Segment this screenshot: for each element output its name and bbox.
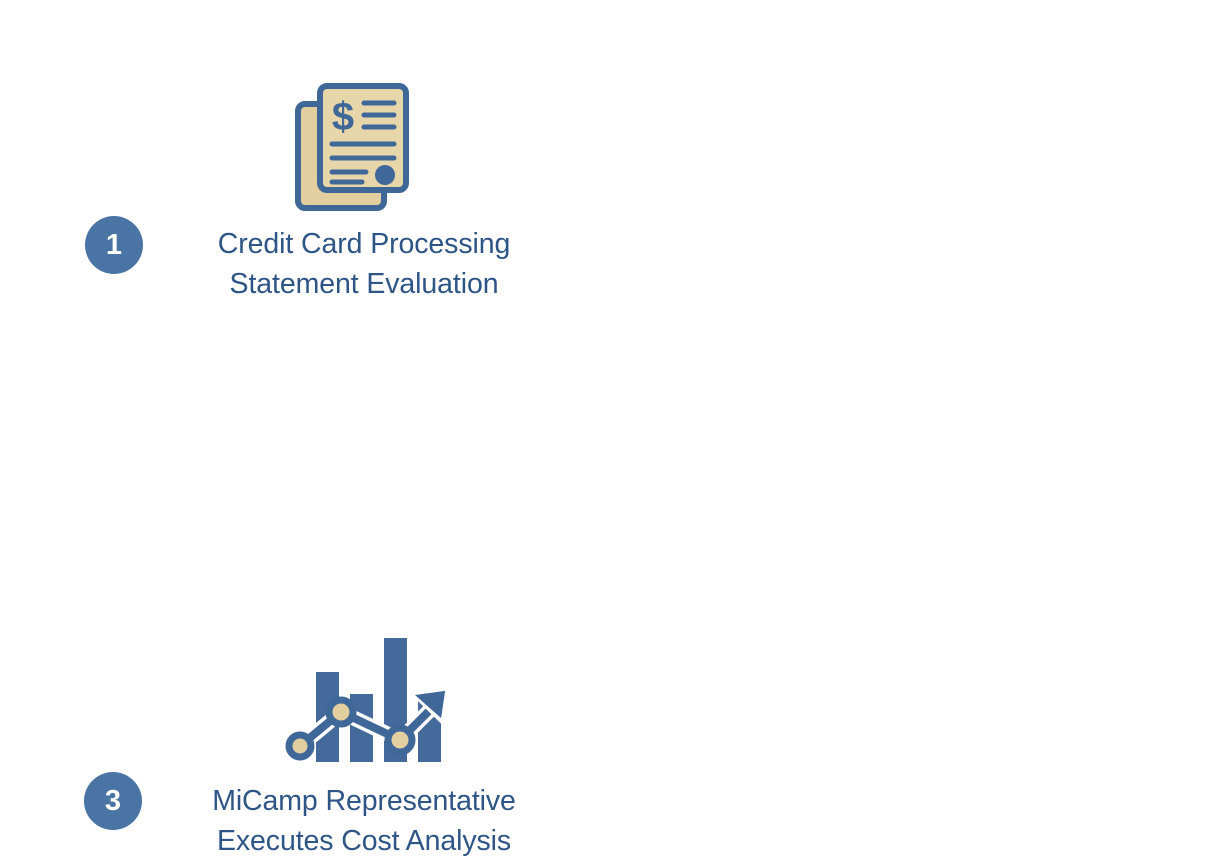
- svg-text:$: $: [332, 95, 354, 139]
- step-number-badge-1: 1: [85, 216, 143, 274]
- statement-document-icon: $: [294, 82, 410, 219]
- step-number-badge-3: 3: [84, 772, 142, 830]
- bar-chart-trend-icon: [282, 636, 466, 767]
- process-step-4: 4: [611, 318, 1222, 636]
- step-number-1: 1: [106, 231, 122, 260]
- step-caption-1: Credit Card Processing Statement Evaluat…: [152, 224, 576, 304]
- infographic-canvas: 1 $: [0, 0, 1223, 637]
- step-caption-3: MiCamp Representative Executes Cost Anal…: [152, 781, 576, 861]
- process-step-3: 3: [0, 318, 611, 636]
- step-number-3: 3: [105, 787, 121, 816]
- process-step-2: 2: [611, 0, 1222, 318]
- process-step-1: 1 $: [0, 0, 611, 318]
